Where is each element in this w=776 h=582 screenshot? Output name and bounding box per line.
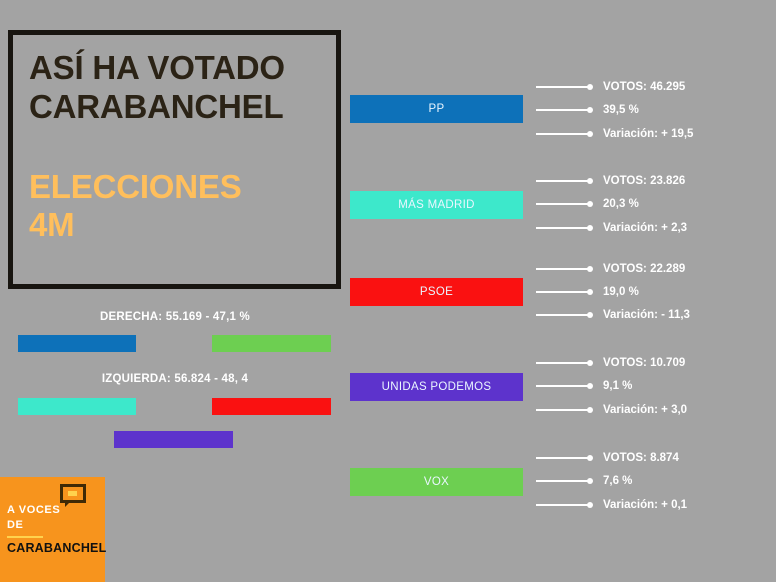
connector-dot-icon xyxy=(587,360,593,366)
connector-line xyxy=(536,180,588,182)
logo-divider xyxy=(7,536,43,538)
stat-text: Variación: + 0,1 xyxy=(603,499,687,511)
stat-text: 19,0 % xyxy=(603,286,639,298)
bloc-bar-vox xyxy=(212,335,331,352)
connector-dot-icon xyxy=(587,455,593,461)
connector-dot-icon xyxy=(587,383,593,389)
connector-dot-icon xyxy=(587,225,593,231)
connector-line xyxy=(536,109,588,111)
stat-text: 20,3 % xyxy=(603,198,639,210)
stat-votes-pp: VOTOS: 46.295 xyxy=(536,80,685,94)
connector-line xyxy=(536,504,588,506)
stat-votes-unidas-podemos: VOTOS: 10.709 xyxy=(536,356,685,370)
stat-text: Variación: + 2,3 xyxy=(603,222,687,234)
connector-line xyxy=(536,314,588,316)
connector-dot-icon xyxy=(587,131,593,137)
logo-line-2: DE xyxy=(7,518,98,533)
connector-dot-icon xyxy=(587,107,593,113)
stat-text: Variación: - 11,3 xyxy=(603,309,690,321)
stat-votes-más-madrid: VOTOS: 23.826 xyxy=(536,174,685,188)
connector-line xyxy=(536,203,588,205)
stat-percent-unidas-podemos: 9,1 % xyxy=(536,379,632,393)
connector-dot-icon xyxy=(587,289,593,295)
stat-percent-psoe: 19,0 % xyxy=(536,285,639,299)
party-bar-pp[interactable]: PP xyxy=(350,95,523,123)
connector-dot-icon xyxy=(587,312,593,318)
bloc-bar-más-madrid xyxy=(18,398,136,415)
stat-variation-más-madrid: Variación: + 2,3 xyxy=(536,221,687,235)
connector-line xyxy=(536,268,588,270)
bloc-title-derecha: DERECHA: 55.169 - 47,1 % xyxy=(0,311,350,323)
stat-text: 9,1 % xyxy=(603,380,632,392)
party-label: PP xyxy=(429,103,445,115)
stat-percent-pp: 39,5 % xyxy=(536,103,639,117)
stat-text: VOTOS: 22.289 xyxy=(603,263,685,275)
connector-dot-icon xyxy=(587,407,593,413)
party-label: VOX xyxy=(424,476,449,488)
connector-dot-icon xyxy=(587,178,593,184)
connector-dot-icon xyxy=(587,478,593,484)
page-subtitle: ELECCIONES 4M xyxy=(29,168,320,245)
connector-line xyxy=(536,362,588,364)
party-bar-más-madrid[interactable]: MÁS MADRID xyxy=(350,191,523,219)
stat-text: 7,6 % xyxy=(603,475,632,487)
connector-dot-icon xyxy=(587,502,593,508)
connector-dot-icon xyxy=(587,266,593,272)
party-bar-psoe[interactable]: PSOE xyxy=(350,278,523,306)
connector-dot-icon xyxy=(587,201,593,207)
stat-variation-pp: Variación: + 19,5 xyxy=(536,127,693,141)
stat-variation-psoe: Variación: - 11,3 xyxy=(536,308,690,322)
stat-text: Variación: + 3,0 xyxy=(603,404,687,416)
connector-line xyxy=(536,409,588,411)
stat-votes-vox: VOTOS: 8.874 xyxy=(536,451,679,465)
page-title: ASÍ HA VOTADO CARABANCHEL xyxy=(29,49,320,126)
party-bar-unidas-podemos[interactable]: UNIDAS PODEMOS xyxy=(350,373,523,401)
party-label: PSOE xyxy=(420,286,453,298)
stat-text: VOTOS: 8.874 xyxy=(603,452,679,464)
stat-percent-más-madrid: 20,3 % xyxy=(536,197,639,211)
bloc-title-izquierda: IZQUIERDA: 56.824 - 48, 4 xyxy=(0,373,350,385)
bloc-bar-unidas-podemos xyxy=(114,431,233,448)
party-label: UNIDAS PODEMOS xyxy=(382,381,492,393)
party-bar-vox[interactable]: VOX xyxy=(350,468,523,496)
stat-text: 39,5 % xyxy=(603,104,639,116)
party-label: MÁS MADRID xyxy=(398,199,474,211)
stat-votes-psoe: VOTOS: 22.289 xyxy=(536,262,685,276)
connector-line xyxy=(536,86,588,88)
brand-logo: A VOCES DE CARABANCHEL xyxy=(0,477,105,582)
stat-text: VOTOS: 46.295 xyxy=(603,81,685,93)
stat-percent-vox: 7,6 % xyxy=(536,474,632,488)
stat-variation-vox: Variación: + 0,1 xyxy=(536,498,687,512)
connector-line xyxy=(536,133,588,135)
title-card: ASÍ HA VOTADO CARABANCHEL ELECCIONES 4M xyxy=(8,30,341,289)
logo-line-3: CARABANCHEL xyxy=(7,541,98,556)
bloc-bar-psoe xyxy=(212,398,331,415)
connector-dot-icon xyxy=(587,84,593,90)
connector-line xyxy=(536,291,588,293)
stat-text: Variación: + 19,5 xyxy=(603,128,693,140)
stat-variation-unidas-podemos: Variación: + 3,0 xyxy=(536,403,687,417)
connector-line xyxy=(536,385,588,387)
stat-text: VOTOS: 10.709 xyxy=(603,357,685,369)
stat-text: VOTOS: 23.826 xyxy=(603,175,685,187)
speech-bubble-icon xyxy=(60,484,86,508)
infographic-canvas: ASÍ HA VOTADO CARABANCHEL ELECCIONES 4M … xyxy=(0,0,776,582)
connector-line xyxy=(536,480,588,482)
connector-line xyxy=(536,457,588,459)
connector-line xyxy=(536,227,588,229)
bloc-bar-pp xyxy=(18,335,136,352)
